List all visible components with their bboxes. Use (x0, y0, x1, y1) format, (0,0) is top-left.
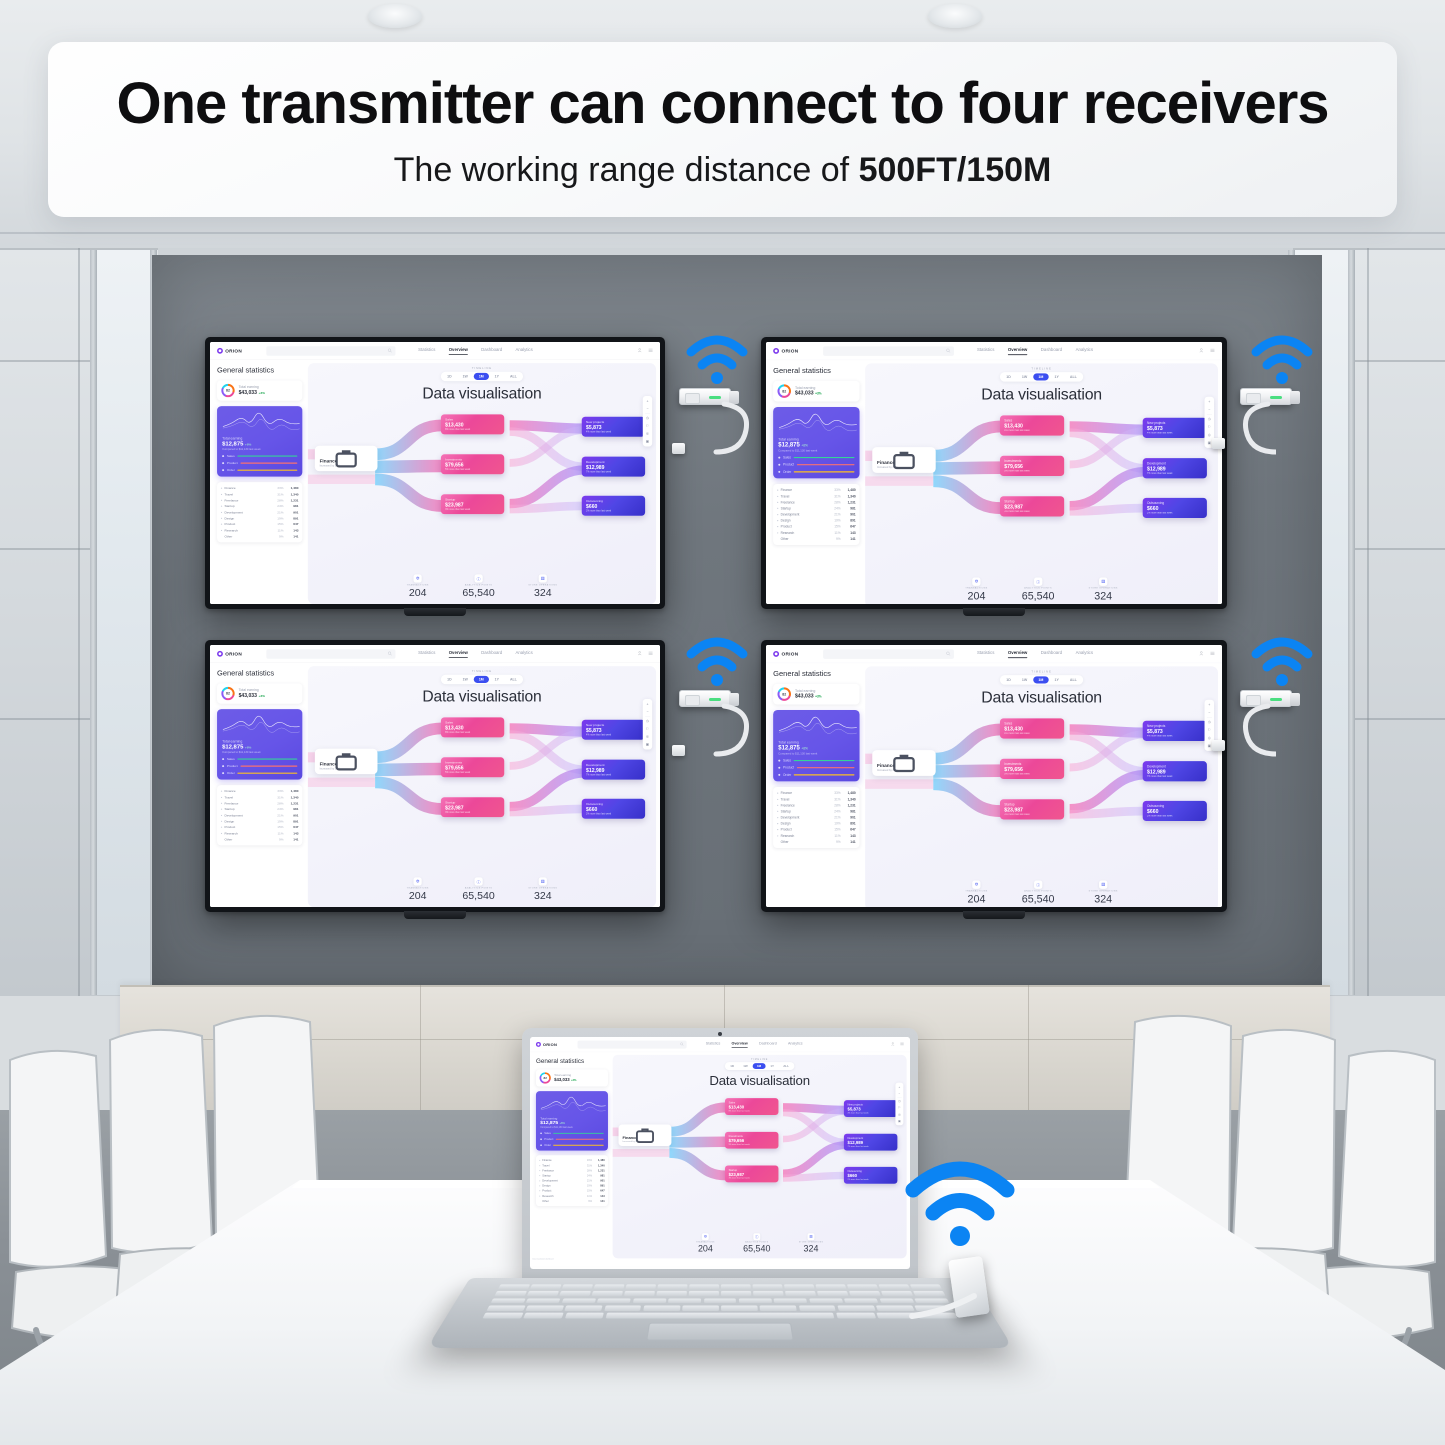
nav-analytics[interactable]: Analytics (1076, 348, 1093, 355)
minus-icon[interactable]: − (1206, 406, 1213, 413)
search-input[interactable] (266, 649, 395, 658)
list-item-name: Other (781, 537, 828, 541)
donut-chart: 82 (777, 687, 790, 700)
list-item[interactable]: Other9%141 (221, 836, 298, 842)
eye-icon[interactable]: ◎ (1206, 431, 1213, 438)
list-item-mid: 15% (582, 1189, 593, 1192)
clock-icon[interactable]: ◷ (1206, 718, 1213, 725)
tv-stand (963, 608, 1025, 616)
flag-icon[interactable]: ⚐ (1206, 423, 1213, 430)
save-icon[interactable]: ▣ (644, 438, 651, 445)
legend-label: Sales (544, 1132, 551, 1135)
plus-icon[interactable]: + (896, 1084, 902, 1090)
timeline-option-1m[interactable]: 1M (753, 1063, 766, 1069)
node-label: Outsourcing (586, 802, 641, 806)
plus-icon[interactable]: + (1206, 398, 1213, 405)
dashboard-nav: Statistics Overview Dashboard Analytics (706, 1042, 803, 1048)
node-label: New projects (586, 420, 641, 424)
user-icon[interactable] (1199, 650, 1204, 657)
node-label: Sales (445, 721, 500, 725)
list-item-mid: 28% (271, 498, 284, 502)
node-sub: 4% more than last week (848, 1112, 894, 1114)
legend-item-product: Product (778, 463, 854, 467)
list-item-name: Product (781, 828, 828, 832)
ceiling-seam (0, 232, 1445, 234)
list-item-value: 891 (841, 519, 856, 523)
nav-statistics[interactable]: Statistics (706, 1042, 721, 1048)
nav-dashboard[interactable]: Dashboard (481, 347, 502, 354)
hdmi-plug (672, 745, 685, 756)
source-node-finance[interactable]: Finance Increased by 38% (872, 750, 935, 776)
timeline-option-1d[interactable]: 1D (726, 1063, 738, 1069)
total-earning-card[interactable]: 82 Total earning $43,033+3% (536, 1069, 608, 1086)
list-item-name: Design (224, 517, 271, 521)
brand-logo[interactable]: ORION (217, 651, 260, 657)
chart-icon: ▥ (539, 877, 547, 885)
node-label: Startup (1004, 803, 1060, 807)
list-item-mid: 24% (271, 808, 284, 812)
trackpad[interactable] (646, 1323, 794, 1341)
legend-bar (237, 455, 297, 456)
footer-stat-analytics-points: ⓘ ANALYTICS POINTS 65,540 (462, 877, 494, 901)
node-development[interactable]: Development $12,989 7% more than last we… (1143, 761, 1207, 781)
node-label: Startup (445, 801, 500, 805)
flag-icon[interactable]: ⚐ (644, 725, 651, 732)
node-value: $660 (1147, 505, 1203, 511)
page-title: General statistics (773, 670, 859, 679)
clock-icon[interactable]: ◷ (1206, 415, 1213, 422)
timeline-option-1w[interactable]: 1W (457, 373, 472, 380)
category-list: Finance33%1,480 Travel31%1,340 Freelance… (536, 1155, 608, 1206)
nav-statistics[interactable]: Statistics (977, 651, 994, 658)
total-earning-card[interactable]: 82 Total earning $43,033+3% (773, 684, 859, 705)
timeline-option-1d[interactable]: 1D (442, 676, 457, 683)
search-input[interactable] (266, 346, 395, 355)
sankey-diagram: Finance Increased by 38% Sales $13,430 8… (308, 711, 656, 828)
legend-dot-icon (778, 774, 780, 776)
timeline-option-1d[interactable]: 1D (442, 373, 457, 380)
timeline-option-all[interactable]: ALL (505, 373, 522, 380)
node-investments[interactable]: Investments $79,656 5% more than last we… (725, 1132, 779, 1149)
node-value: $13,430 (445, 725, 500, 731)
banner-subtitle-prefix: The working range distance of (394, 151, 859, 189)
donut-chart: 82 (777, 384, 790, 397)
user-icon[interactable] (1199, 347, 1204, 354)
wifi-icon (1248, 632, 1316, 688)
timeline-option-1m[interactable]: 1M (1033, 676, 1048, 683)
node-value: $660 (586, 503, 641, 509)
node-label: Outsourcing (848, 1170, 894, 1173)
node-startup[interactable]: Startup $23,987 3% more than last week (1000, 799, 1064, 819)
node-startup[interactable]: Startup $23,987 3% more than last week (725, 1166, 779, 1183)
brand-name: ORION (225, 651, 242, 656)
hdmi-cable (700, 398, 760, 458)
nav-dashboard[interactable]: Dashboard (759, 1042, 777, 1048)
list-item[interactable]: Other9%141 (221, 533, 298, 539)
node-value: $660 (848, 1173, 894, 1178)
main-heading: Data visualisation (613, 1073, 907, 1088)
node-label: Outsourcing (1147, 501, 1203, 505)
nav-dashboard[interactable]: Dashboard (1041, 651, 1062, 658)
total-earning-card[interactable]: 82 Total earning $43,033+3% (217, 683, 302, 703)
node-outsourcing[interactable]: Outsourcing $660 2% more than last week (844, 1167, 898, 1184)
plus-icon[interactable]: + (1206, 701, 1213, 708)
nav-overview[interactable]: Overview (449, 347, 468, 354)
user-icon[interactable] (637, 347, 642, 354)
laptop-transmitter[interactable]: ORION Statistics Overview Dashboard Anal… (470, 1028, 970, 1388)
nav-statistics[interactable]: Statistics (418, 650, 435, 657)
nav-statistics[interactable]: Statistics (418, 347, 435, 354)
clock-icon[interactable]: ◷ (896, 1098, 902, 1104)
sparkline-chart (778, 715, 857, 736)
node-value: $12,989 (586, 767, 641, 773)
trend-delta: +8% (801, 747, 807, 751)
node-new-projects[interactable]: New projects $5,873 4% more than last we… (582, 720, 645, 740)
list-item-value: 647 (841, 525, 856, 529)
dashboard-topbar: ORION Statistics Overview Dashboard Anal… (530, 1037, 910, 1052)
menu-icon[interactable] (648, 650, 653, 657)
list-item[interactable]: Other9%141 (777, 839, 856, 845)
plus-icon[interactable]: + (644, 701, 651, 708)
brand-logo[interactable]: ORION (536, 1042, 572, 1047)
tv-screen-2[interactable]: ORION Statistics Overview Dashboard Anal… (761, 337, 1227, 609)
node-sub: 8% more than last week (1004, 430, 1060, 432)
eye-icon[interactable]: ◎ (644, 430, 651, 437)
node-startup[interactable]: Startup $23,987 3% more than last week (441, 797, 504, 817)
search-input[interactable] (578, 1040, 687, 1048)
node-value: $660 (1147, 808, 1203, 814)
nav-overview[interactable]: Overview (449, 650, 468, 657)
list-item-name: Research (224, 832, 271, 836)
stat-value: 65,540 (743, 1244, 770, 1254)
brand-logo[interactable]: ORION (217, 348, 260, 354)
dashboard-topbar: ORION Statistics Overview Dashboard Anal… (766, 645, 1222, 663)
source-node-finance[interactable]: Finance Increased by 38% (619, 1125, 672, 1146)
list-item-value: 891 (841, 822, 856, 826)
flag-icon[interactable]: ⚐ (644, 422, 651, 429)
clock-icon[interactable]: ◷ (644, 414, 651, 421)
timeline-option-all[interactable]: ALL (1065, 676, 1082, 683)
minus-icon[interactable]: − (644, 708, 651, 715)
timeline-option-1w[interactable]: 1W (457, 676, 472, 683)
dashboard-topbar: ORION Statistics Overview Dashboard Anal… (210, 342, 660, 360)
node-new-projects[interactable]: New projects $5,873 4% more than last we… (582, 417, 645, 437)
timeline-option-1y[interactable]: 1Y (490, 676, 504, 683)
node-investments[interactable]: Investments $79,656 5% more than last we… (441, 757, 504, 777)
total-earning-card[interactable]: 82 Total earning $43,033+3% (773, 381, 859, 402)
timeline-selector: TIMELINE 1D 1W 1M 1Y ALL (308, 367, 656, 381)
legend-dot-icon (222, 455, 224, 457)
node-value: $23,987 (445, 805, 500, 811)
earning-trend-card[interactable]: Total earning $12,875+8% Compared to $11… (217, 709, 302, 779)
trend-sub: Compared to $11,130 last week (222, 751, 297, 754)
save-icon[interactable]: ▣ (896, 1118, 902, 1124)
timeline-option-1y[interactable]: 1Y (766, 1063, 778, 1069)
list-item-mid: 24% (828, 507, 841, 511)
tv-screen-1[interactable]: ORION Statistics Overview Dashboard Anal… (205, 337, 665, 609)
user-icon[interactable] (637, 650, 642, 657)
node-outsourcing[interactable]: Outsourcing $660 2% more than last week (1143, 498, 1207, 518)
keyboard[interactable] (482, 1284, 957, 1318)
eye-icon[interactable]: ◎ (644, 733, 651, 740)
legend-item-order: Order (778, 470, 854, 474)
timeline-pills: 1D 1W 1M 1Y ALL (441, 372, 523, 381)
brand-logo[interactable]: ORION (773, 348, 817, 354)
node-value: $23,987 (1004, 807, 1060, 813)
node-startup[interactable]: Startup $23,987 3% more than last week (441, 494, 504, 514)
search-icon (946, 347, 950, 354)
list-item-mid: 15% (828, 828, 841, 832)
trend-value: $12,875 (778, 745, 800, 752)
timeline-option-1y[interactable]: 1Y (1049, 676, 1064, 683)
node-development[interactable]: Development $12,989 7% more than last we… (582, 760, 645, 780)
list-item[interactable]: Other9%141 (777, 536, 856, 542)
timeline-option-1m[interactable]: 1M (1033, 373, 1048, 380)
dashboard-topbar: ORION Statistics Overview Dashboard Anal… (766, 342, 1222, 360)
timeline-label: TIMELINE (308, 367, 656, 370)
search-input[interactable] (823, 649, 954, 659)
node-new-projects[interactable]: New projects $5,873 4% more than last we… (1143, 721, 1207, 741)
nav-analytics[interactable]: Analytics (516, 347, 533, 354)
list-item-mid: 19% (828, 822, 841, 826)
minus-icon[interactable]: − (896, 1091, 902, 1097)
brand-name: ORION (543, 1042, 557, 1047)
list-item[interactable]: Other9%141 (539, 1199, 604, 1204)
list-item-name: Development (781, 513, 828, 517)
earning-delta: +3% (571, 1079, 576, 1082)
list-item-value: 141 (284, 838, 299, 842)
nav-statistics[interactable]: Statistics (977, 348, 994, 355)
timeline-option-all[interactable]: ALL (505, 676, 522, 683)
node-development[interactable]: Development $12,989 7% more than last we… (844, 1134, 898, 1151)
main-panel: TIMELINE 1D 1W 1M 1Y ALL Data visualisat… (865, 666, 1218, 907)
nav-analytics[interactable]: Analytics (516, 650, 533, 657)
nav-analytics[interactable]: Analytics (788, 1042, 803, 1048)
search-input[interactable] (823, 346, 954, 356)
node-sub: 3% more than last week (729, 1177, 775, 1179)
timeline-option-1w[interactable]: 1W (739, 1063, 752, 1069)
node-value: $12,989 (848, 1140, 894, 1145)
minus-icon[interactable]: − (644, 405, 651, 412)
usb-cable (900, 1290, 990, 1350)
list-item-mid: 9% (271, 838, 284, 842)
topbar-actions (1199, 650, 1215, 657)
node-outsourcing[interactable]: Outsourcing $660 2% more than last week (582, 496, 645, 516)
search-icon (680, 1041, 684, 1047)
menu-icon[interactable] (648, 347, 653, 354)
list-item-mid: 21% (582, 1179, 593, 1182)
timeline-option-1y[interactable]: 1Y (1049, 373, 1064, 380)
source-node-finance[interactable]: Finance Increased by 38% (315, 749, 378, 774)
info-icon: ⓘ (1034, 578, 1042, 586)
node-sales[interactable]: Sales $13,430 8% more than last week (441, 717, 504, 737)
minus-icon[interactable]: − (1206, 709, 1213, 716)
sparkline-chart (778, 412, 857, 433)
canvas-toolbar: + − ◷ ⚐ ◎ ▣ (643, 699, 652, 749)
node-sales[interactable]: Sales $13,430 8% more than last week (441, 414, 504, 434)
node-sales[interactable]: Sales $13,430 8% more than last week (1000, 718, 1064, 738)
earning-trend-card[interactable]: Total earning $12,875+8% Compared to $11… (536, 1091, 608, 1150)
list-item-name: Other (224, 838, 271, 842)
list-item-mid: 15% (828, 525, 841, 529)
list-item-mid: 31% (582, 1164, 593, 1167)
legend-bar (238, 773, 298, 774)
trend-delta: +8% (245, 443, 251, 447)
list-item-value: 1,340 (284, 795, 299, 799)
earning-value: $43,033 (239, 692, 257, 698)
list-item-name: Freelance (224, 498, 271, 502)
sidebar: General statistics 82 Total earning $43,… (766, 663, 865, 907)
search-icon (388, 347, 392, 354)
node-sub: 2% more than last week (586, 813, 641, 815)
wifi-icon (1248, 330, 1316, 386)
node-value: $5,873 (586, 424, 641, 430)
tv-screen-3[interactable]: ORION Statistics Overview Dashboard Anal… (205, 640, 665, 912)
node-sales[interactable]: Sales $13,430 8% more than last week (725, 1098, 779, 1115)
legend-bar (553, 1133, 604, 1134)
node-investments[interactable]: Investments $79,656 5% more than last we… (441, 454, 504, 474)
node-value: $5,873 (1147, 425, 1203, 431)
list-item-name: Finance (224, 486, 271, 490)
plus-icon[interactable]: + (644, 398, 651, 405)
clock-icon[interactable]: ◷ (644, 717, 651, 724)
node-sales[interactable]: Sales $13,430 8% more than last week (1000, 415, 1064, 435)
node-label: Sales (729, 1101, 775, 1104)
total-earning-card[interactable]: 82 Total earning $43,033+3% (217, 380, 302, 400)
node-sub: 2% more than last week (1147, 512, 1203, 514)
user-icon[interactable] (891, 1041, 895, 1047)
node-label: Development (848, 1137, 894, 1140)
nav-dashboard[interactable]: Dashboard (1041, 348, 1062, 355)
node-value: $79,656 (445, 765, 500, 771)
sidebar: General statistics 82 Total earning $43,… (530, 1052, 613, 1261)
node-sub: 8% more than last week (1004, 733, 1060, 735)
eye-icon[interactable]: ◎ (896, 1111, 902, 1117)
donut-value: 82 (779, 386, 789, 396)
timeline-option-1m[interactable]: 1M (474, 373, 489, 380)
list-item-mid: 33% (828, 791, 841, 795)
node-sub: 8% more than last week (445, 428, 500, 430)
list-item-mid: 21% (271, 511, 284, 515)
legend-dot-icon (540, 1132, 542, 1134)
list-item-name: Freelance (542, 1169, 581, 1172)
footer-stat-analytics-points: ⓘ ANALYTICS POINTS 65,540 (1022, 578, 1055, 603)
earning-trend-card[interactable]: Total earning $12,875+8% Compared to $11… (773, 407, 859, 478)
menu-icon[interactable] (1210, 650, 1215, 657)
orion-logo-icon (217, 348, 223, 354)
node-label: Startup (1004, 500, 1060, 504)
dashboard-topbar: ORION Statistics Overview Dashboard Anal… (210, 645, 660, 663)
timeline-option-1w[interactable]: 1W (1017, 373, 1033, 380)
node-sub: 4% more than last week (586, 431, 641, 433)
node-sub: 4% more than last week (1147, 735, 1203, 737)
legend-dot-icon (540, 1138, 542, 1140)
timeline-option-all[interactable]: ALL (779, 1063, 793, 1069)
node-sub: 8% more than last week (729, 1110, 775, 1112)
node-new-projects[interactable]: New projects $5,873 4% more than last we… (844, 1100, 898, 1117)
donut-chart: 82 (221, 687, 234, 700)
earning-delta: +3% (815, 392, 821, 396)
list-item-name: Research (781, 834, 828, 838)
sankey-diagram: Finance Increased by 38% Sales $13,430 8… (865, 409, 1218, 528)
legend-label: Sales (227, 454, 235, 458)
footer-stats: ⚙ TRANSACTIONS 204 ⓘ ANALYTICS POINTS 65… (613, 1233, 907, 1253)
menu-icon[interactable] (900, 1041, 904, 1047)
list-item-value: 981 (841, 507, 856, 511)
timeline-option-1y[interactable]: 1Y (490, 373, 504, 380)
earning-trend-card[interactable]: Total earning $12,875+8% Compared to $11… (773, 710, 859, 781)
node-new-projects[interactable]: New projects $5,873 4% more than last we… (1143, 418, 1207, 438)
list-item-name: Travel (781, 494, 828, 498)
list-item-value: 901 (284, 814, 299, 818)
nav-dashboard[interactable]: Dashboard (481, 650, 502, 657)
source-node-finance[interactable]: Finance Increased by 38% (315, 446, 378, 471)
list-item-value: 1,340 (592, 1164, 605, 1167)
flag-icon[interactable]: ⚐ (1206, 726, 1213, 733)
chart-icon: ▥ (1099, 881, 1107, 889)
timeline-option-1d[interactable]: 1D (1001, 373, 1016, 380)
nav-overview[interactable]: Overview (732, 1042, 748, 1048)
list-item-mid: 9% (828, 537, 841, 541)
brand-logo[interactable]: ORION (773, 651, 817, 657)
list-item-mid: 31% (828, 494, 841, 498)
node-investments[interactable]: Investments $79,656 5% more than last we… (1000, 759, 1064, 779)
watermark: Data visualisation dashboard (532, 1258, 553, 1260)
nav-overview[interactable]: Overview (1008, 651, 1027, 658)
node-outsourcing[interactable]: Outsourcing $660 2% more than last week (582, 799, 645, 819)
timeline-option-all[interactable]: ALL (1065, 373, 1082, 380)
info-icon: ⓘ (474, 574, 482, 582)
sparkline-chart (540, 1095, 606, 1112)
sidebar: General statistics 82 Total earning $43,… (766, 360, 865, 604)
footer-stat-transactions: ⚙ TRANSACTIONS 204 (965, 578, 987, 603)
node-startup[interactable]: Startup $23,987 3% more than last week (1000, 496, 1064, 516)
node-investments[interactable]: Investments $79,656 5% more than last we… (1000, 456, 1064, 476)
save-icon[interactable]: ▣ (644, 741, 651, 748)
banner-title: One transmitter can connect to four rece… (116, 70, 1328, 137)
timeline-option-1w[interactable]: 1W (1017, 676, 1033, 683)
nav-overview[interactable]: Overview (1008, 348, 1027, 355)
tv-screen-4[interactable]: ORION Statistics Overview Dashboard Anal… (761, 640, 1227, 912)
window-left (96, 250, 152, 995)
node-sub: 7% more than last week (1147, 775, 1203, 777)
legend-label: Order (227, 771, 235, 775)
node-sub: 3% more than last week (445, 811, 500, 813)
earning-trend-card[interactable]: Total earning $12,875+8% Compared to $11… (217, 406, 302, 476)
list-item-mid: 9% (582, 1200, 593, 1203)
timeline-option-1d[interactable]: 1D (1001, 676, 1016, 683)
node-label: Startup (445, 498, 500, 502)
node-development[interactable]: Development $12,989 7% more than last we… (1143, 458, 1207, 478)
node-label: Development (586, 763, 641, 767)
legend-bar (794, 760, 855, 761)
nav-analytics[interactable]: Analytics (1076, 651, 1093, 658)
wifi-icon (683, 330, 751, 386)
trend-sub: Compared to $11,130 last week (222, 448, 297, 451)
flag-icon[interactable]: ⚐ (896, 1105, 902, 1111)
list-item-name: Other (542, 1200, 581, 1203)
sparkline-chart (222, 411, 300, 431)
list-item-name: Development (224, 511, 271, 515)
list-item-value: 1,231 (841, 804, 856, 808)
list-item-name: Product (781, 525, 828, 529)
node-development[interactable]: Development $12,989 7% more than last we… (582, 457, 645, 477)
node-outsourcing[interactable]: Outsourcing $660 2% more than last week (1143, 801, 1207, 821)
timeline-option-1m[interactable]: 1M (474, 676, 489, 683)
menu-icon[interactable] (1210, 347, 1215, 354)
source-node-finance[interactable]: Finance Increased by 38% (872, 447, 935, 473)
list-item-mid: 19% (582, 1184, 593, 1187)
